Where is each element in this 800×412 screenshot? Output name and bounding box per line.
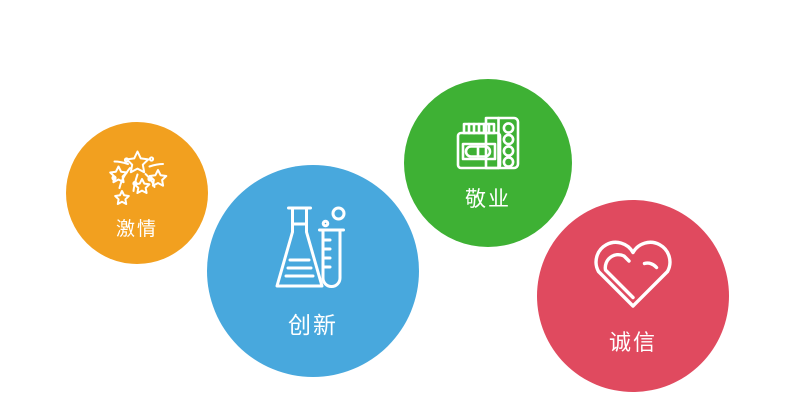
circle-content-integrity: 诚信: [537, 200, 729, 396]
value-label-dedication: 敬业: [465, 183, 511, 213]
value-label-innovation: 创新: [288, 306, 338, 340]
heart-outline-icon: [591, 235, 675, 311]
fireworks-stars-icon: [104, 146, 170, 208]
flask-test-tube-icon: [268, 202, 358, 292]
circle-content-innovation: 创新: [207, 165, 419, 383]
value-circle-passion[interactable]: 激情: [66, 122, 208, 264]
values-graphic-canvas: 激情: [0, 0, 800, 412]
value-label-integrity: 诚信: [609, 325, 657, 357]
value-circle-innovation[interactable]: 创新: [207, 165, 419, 377]
value-label-passion: 激情: [116, 214, 158, 241]
medicine-bottle-blister-pack-icon: [456, 113, 520, 173]
value-circle-integrity[interactable]: 诚信: [537, 200, 729, 392]
circle-content-passion: 激情: [66, 122, 208, 268]
